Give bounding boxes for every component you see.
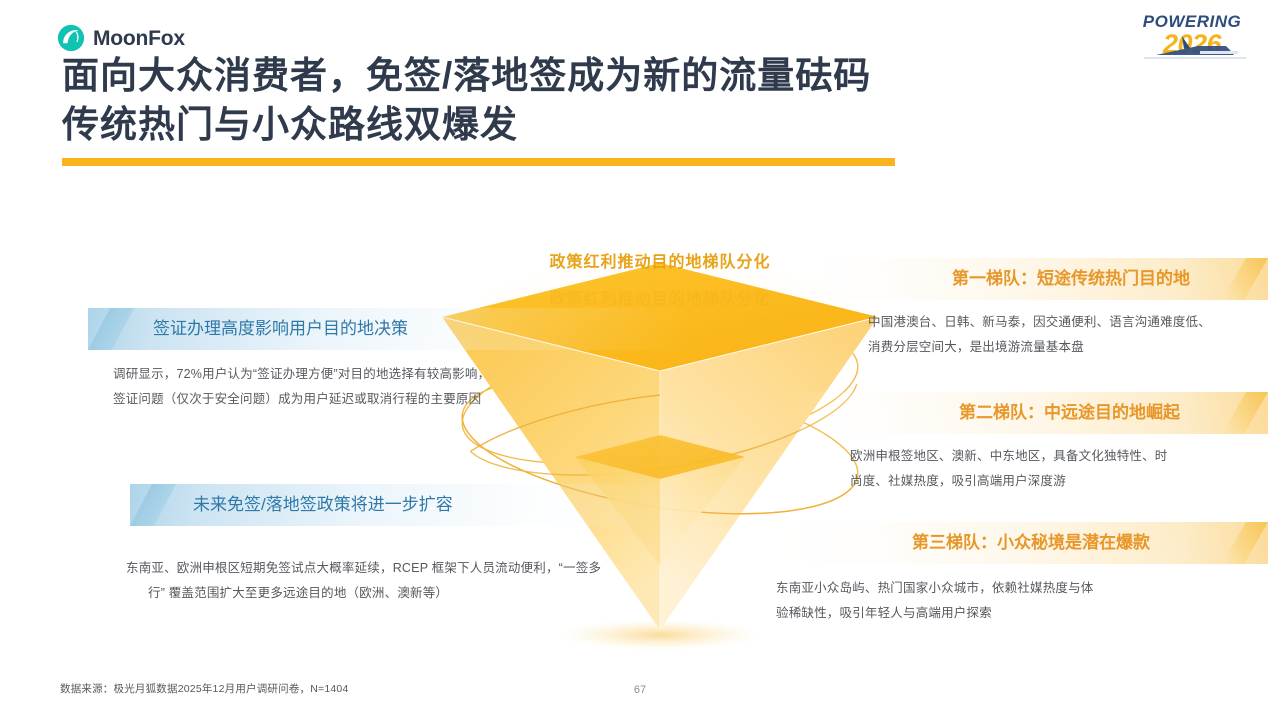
panel-tier-2: 第二梯队：中远途目的地崛起 欧洲申根签地区、澳新、中东地区，具备文化独特性、时 … bbox=[790, 392, 1268, 494]
ribbon-accent-tab bbox=[130, 484, 176, 526]
panel-body-line: 签证问题（仅次于安全问题）成为用户延迟或取消行程的主要原因 bbox=[113, 387, 688, 412]
ribbon-accent-tab bbox=[1222, 522, 1268, 564]
panel-body-line: 欧洲申根签地区、澳新、中东地区，具备文化独特性、时 bbox=[850, 444, 1268, 469]
center-heading: 政策红利推动目的地梯队分化 bbox=[415, 248, 905, 272]
panel-visa-impact: 签证办理高度影响用户目的地决策 调研显示，72%用户认为“签证办理方便”对目的地… bbox=[88, 308, 688, 412]
panel-title: 签证办理高度影响用户目的地决策 bbox=[153, 308, 408, 350]
panel-visa-free-expansion: 未来免签/落地签政策将进一步扩容 东南亚、欧洲申根区短期免签试点大概率延续，RC… bbox=[130, 484, 690, 606]
panel-title: 第三梯队：小众秘境是潜在爆款 bbox=[912, 522, 1150, 564]
panel-body-line: 中国港澳台、日韩、新马泰，因交通便利、语言沟通难度低、 bbox=[868, 310, 1268, 335]
panel-body-line: 尚度、社媒热度，吸引高端用户深度游 bbox=[850, 469, 1268, 494]
panel-tier-1: 第一梯队：短途传统热门目的地 中国港澳台、日韩、新马泰，因交通便利、语言沟通难度… bbox=[800, 258, 1268, 360]
ribbon-banner-blue: 签证办理高度影响用户目的地决策 bbox=[88, 308, 688, 350]
page-number: 67 bbox=[0, 684, 1280, 696]
page-title: 面向大众消费者，免签/落地签成为新的流量砝码 传统热门与小众路线双爆发 bbox=[62, 52, 1062, 150]
panel-body-line: 调研显示，72%用户认为“签证办理方便”对目的地选择有较高影响， bbox=[113, 362, 688, 387]
panel-body: 中国港澳台、日韩、新马泰，因交通便利、语言沟通难度低、 消费分层空间大，是出境游… bbox=[800, 310, 1268, 360]
panel-body: 欧洲申根签地区、澳新、中东地区，具备文化独特性、时 尚度、社媒热度，吸引高端用户… bbox=[790, 444, 1268, 494]
ribbon-banner-blue: 未来免签/落地签政策将进一步扩容 bbox=[130, 484, 690, 526]
center-heading-reflection: 政策红利推动目的地梯队分化 bbox=[415, 285, 905, 309]
panel-body-line: 消费分层空间大，是出境游流量基本盘 bbox=[868, 335, 1268, 360]
title-line-1: 面向大众消费者，免签/落地签成为新的流量砝码 bbox=[62, 52, 1062, 101]
brand-logo: MoonFox bbox=[57, 24, 185, 52]
panel-body: 东南亚、欧洲申根区短期免签试点大概率延续，RCEP 框架下人员流动便利，“一签多… bbox=[126, 556, 690, 606]
slide-canvas: MoonFox POWERING 2026 面向大众消费者，免签/落地签成为新的… bbox=[0, 0, 1280, 720]
ribbon-accent-tab bbox=[88, 308, 134, 350]
ribbon-accent-tab bbox=[1222, 258, 1268, 300]
panel-title: 未来免签/落地签政策将进一步扩容 bbox=[193, 484, 453, 526]
ribbon-banner-gold: 第三梯队：小众秘境是潜在爆款 bbox=[762, 522, 1268, 564]
panel-title: 第二梯队：中远途目的地崛起 bbox=[959, 392, 1180, 434]
ribbon-accent-tab bbox=[1222, 392, 1268, 434]
ribbon-banner-gold: 第二梯队：中远途目的地崛起 bbox=[790, 392, 1268, 434]
title-divider bbox=[62, 158, 895, 166]
panel-title: 第一梯队：短途传统热门目的地 bbox=[952, 258, 1190, 300]
panel-body-line: 验稀缺性，吸引年轻人与高端用户探索 bbox=[776, 601, 1268, 626]
powering-2026-logo: POWERING 2026 bbox=[1126, 8, 1258, 62]
panel-tier-3: 第三梯队：小众秘境是潜在爆款 东南亚小众岛屿、热门国家小众城市，依赖社媒热度与体… bbox=[762, 522, 1268, 626]
panel-body-line: 东南亚小众岛屿、热门国家小众城市，依赖社媒热度与体 bbox=[776, 576, 1268, 601]
panel-body: 东南亚小众岛屿、热门国家小众城市，依赖社媒热度与体 验稀缺性，吸引年轻人与高端用… bbox=[762, 576, 1268, 626]
title-line-2: 传统热门与小众路线双爆发 bbox=[62, 101, 1062, 150]
moonfox-circle-icon bbox=[57, 24, 85, 52]
panel-body-line: 行” 覆盖范围扩大至更多远途目的地（欧洲、澳新等） bbox=[126, 581, 690, 606]
brand-name: MoonFox bbox=[93, 28, 185, 49]
panel-body: 调研显示，72%用户认为“签证办理方便”对目的地选择有较高影响， 签证问题（仅次… bbox=[88, 362, 688, 412]
panel-body-line: 东南亚、欧洲申根区短期免签试点大概率延续，RCEP 框架下人员流动便利，“一签多 bbox=[126, 556, 690, 581]
